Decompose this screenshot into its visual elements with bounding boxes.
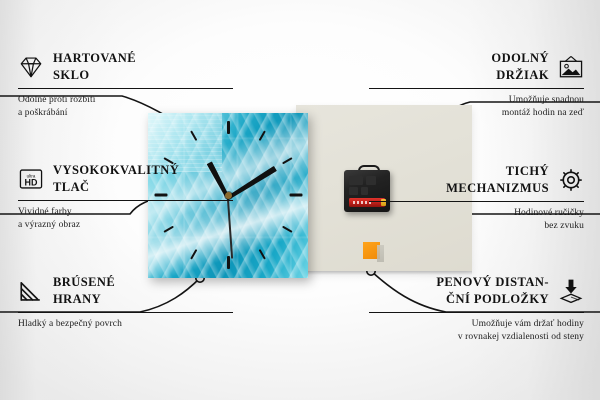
feature-description: Umožňuje vám držať hodiny v rovnakej vzd… <box>369 318 584 344</box>
bevelled-edges-icon <box>18 278 44 304</box>
feature-title: BRÚSENÉ HRANY <box>53 274 115 307</box>
divider <box>18 200 233 201</box>
feature-foam-spacers: PENOVÝ DISTAN- ČNÍ PODLOŽKY Umožňuje vám… <box>369 274 584 344</box>
feature-description: Hodinové ručičky bez zvuku <box>369 207 584 233</box>
feature-high-quality-print: ultra HD VYSOKOKVALITNÝ TLAČ Vividné far… <box>18 162 233 232</box>
divider <box>18 312 233 313</box>
product-infographic: HARTOVANÉ SKLO Odolné proti rozbití a po… <box>0 0 600 400</box>
feature-description: Umožňuje snadnou montáž hodin na zeď <box>369 94 584 120</box>
foam-spacer-pad <box>363 242 380 259</box>
feature-description: Vividné farby a výrazný obraz <box>18 206 233 232</box>
gear-icon <box>558 167 584 193</box>
feature-title: TICHÝ MECHANIZMUS <box>446 163 549 196</box>
feature-durable-hanger: ODOLNÝ DRŽIAK Umožňuje snadnou montáž ho… <box>369 50 584 120</box>
feature-title: PENOVÝ DISTAN- ČNÍ PODLOŽKY <box>436 274 549 307</box>
divider <box>369 312 584 313</box>
divider <box>18 88 233 89</box>
diamond-icon <box>18 54 44 80</box>
feature-silent-mechanism: TICHÝ MECHANIZMUS Hodinové ručičky bez z… <box>369 163 584 233</box>
feature-title: HARTOVANÉ SKLO <box>53 50 136 83</box>
arrow-down-stack-icon <box>558 278 584 304</box>
feature-description: Hladký a bezpečný povrch <box>18 318 233 331</box>
picture-frame-icon <box>558 54 584 80</box>
feature-title: ODOLNÝ DRŽIAK <box>491 50 549 83</box>
feature-title: VYSOKOKVALITNÝ TLAČ <box>53 162 179 195</box>
feature-tempered-glass: HARTOVANÉ SKLO Odolné proti rozbití a po… <box>18 50 233 120</box>
divider <box>369 201 584 202</box>
feature-bevelled-edges: BRÚSENÉ HRANY Hladký a bezpečný povrch <box>18 274 233 331</box>
ultra-hd-icon: ultra HD <box>18 166 44 192</box>
feature-description: Odolné proti rozbití a poškrábání <box>18 94 233 120</box>
divider <box>369 88 584 89</box>
svg-text:HD: HD <box>25 177 38 187</box>
